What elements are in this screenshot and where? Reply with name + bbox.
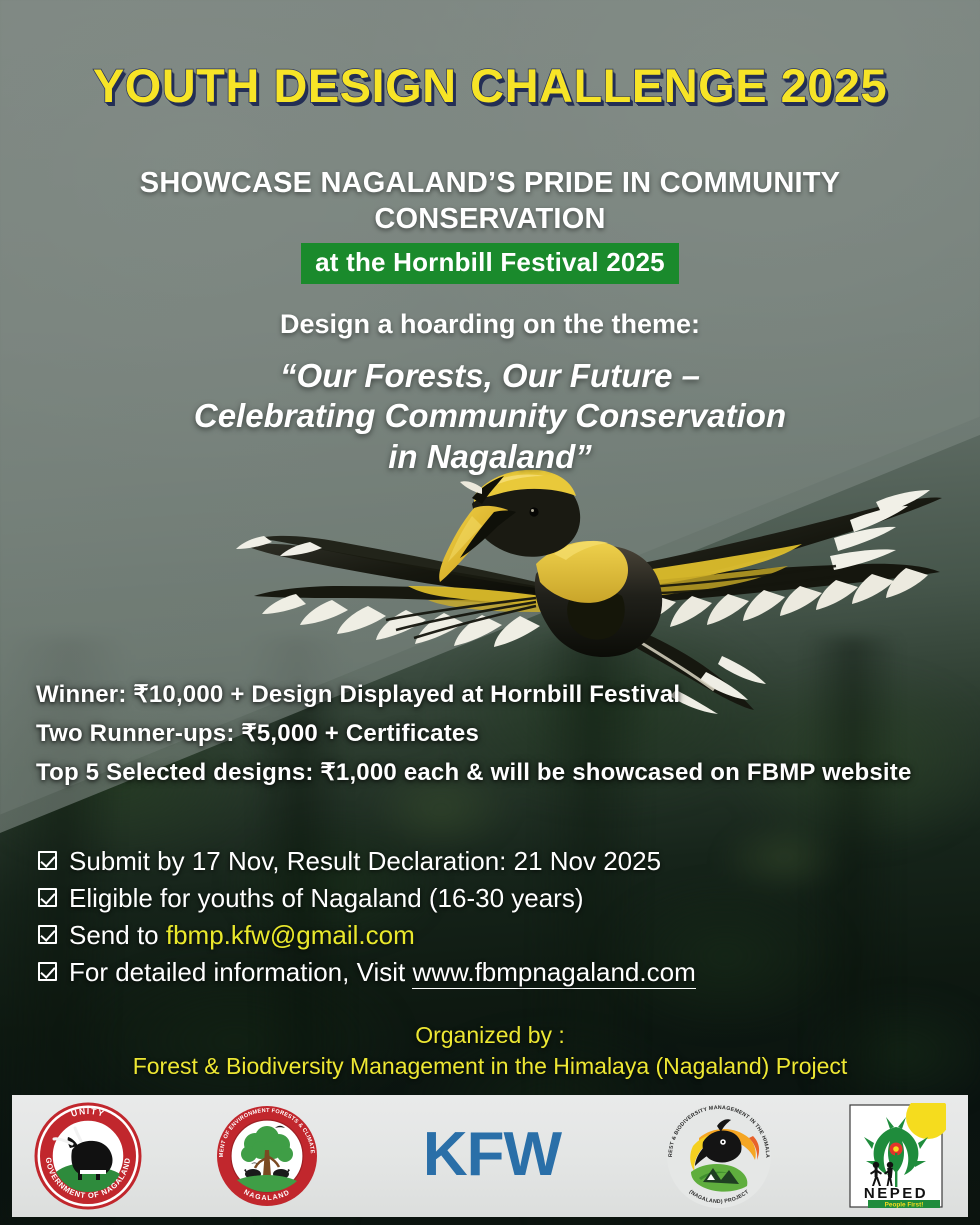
checklist-item-website: For detailed information, Visit www.fbmp…: [38, 953, 696, 990]
checklist-text: Eligible for youths of Nagaland (16-30 y…: [69, 885, 584, 911]
logo-fbmp: FOREST & BIODIVERSITY MANAGEMENT IN THE …: [665, 1102, 773, 1210]
prize-item-runners-up: Two Runner-ups: ₹5,000 + Certificates: [36, 715, 912, 754]
theme-lead: Design a hoarding on the theme:: [0, 309, 980, 340]
theme-quote-line-1: “Our Forests, Our Future –: [50, 356, 930, 396]
theme-quote-line-3: in Nagaland”: [50, 437, 930, 477]
partner-logo-bar: UNITY GOVERNMENT OF NAGALAND: [12, 1095, 968, 1217]
organizer-block: Organized by : Forest & Biodiversity Man…: [0, 1020, 980, 1082]
logo-neped: NEPED People First!: [846, 1103, 946, 1209]
festival-band-row: at the Hornbill Festival 2025: [0, 243, 980, 284]
checkbox-checked-icon: [38, 851, 57, 870]
organizer-label: Organized by :: [0, 1020, 980, 1051]
checkbox-checked-icon: [38, 962, 57, 981]
website-link[interactable]: www.fbmpnagaland.com: [412, 957, 695, 989]
checkbox-checked-icon: [38, 888, 57, 907]
prize-item-winner: Winner: ₹10,000 + Design Displayed at Ho…: [36, 676, 912, 715]
logo-dept-environment-forests: DEPARTMENT OF ENVIRONMENT FORESTS & CLIM…: [215, 1104, 319, 1208]
checklist-item-deadline: Submit by 17 Nov, Result Declaration: 21…: [38, 842, 696, 879]
checklist-item-email: Send to fbmp.kfw@gmail.com: [38, 916, 696, 953]
page-title: YOUTH DESIGN CHALLENGE 2025: [0, 58, 980, 113]
checklist-prefix: For detailed information, Visit: [69, 957, 412, 987]
checkbox-checked-icon: [38, 925, 57, 944]
checklist-text: Submit by 17 Nov, Result Declaration: 21…: [69, 848, 661, 874]
checklist-item-eligibility: Eligible for youths of Nagaland (16-30 y…: [38, 879, 696, 916]
theme-quote-line-2: Celebrating Community Conservation: [50, 396, 930, 436]
kfw-wordmark: KFW: [423, 1120, 563, 1189]
poster-root: YOUTH DESIGN CHALLENGE 2025 SHOWCASE NAG…: [0, 0, 980, 1225]
prize-item-top-five: Top 5 Selected designs: ₹1,000 each & wi…: [36, 754, 912, 793]
organizer-name: Forest & Biodiversity Management in the …: [0, 1051, 980, 1082]
subheadline-line-1: SHOWCASE NAGALAND’S PRIDE IN COMMUNITY: [110, 166, 870, 202]
neped-wordmark: NEPED: [864, 1185, 928, 1202]
checklist-text: For detailed information, Visit www.fbmp…: [69, 959, 696, 985]
details-checklist: Submit by 17 Nov, Result Declaration: 21…: [38, 842, 696, 990]
neped-tagline: People First!: [885, 1202, 924, 1209]
festival-band: at the Hornbill Festival 2025: [301, 243, 679, 284]
subheadline-line-2: CONSERVATION: [110, 202, 870, 238]
prize-list: Winner: ₹10,000 + Design Displayed at Ho…: [36, 676, 912, 793]
checklist-text: Send to fbmp.kfw@gmail.com: [69, 922, 415, 948]
logo-govt-nagaland: UNITY GOVERNMENT OF NAGALAND: [34, 1102, 142, 1210]
email-link[interactable]: fbmp.kfw@gmail.com: [166, 920, 415, 950]
theme-quote: “Our Forests, Our Future – Celebrating C…: [50, 356, 930, 477]
subheadline: SHOWCASE NAGALAND’S PRIDE IN COMMUNITY C…: [110, 166, 870, 238]
checklist-prefix: Send to: [69, 920, 166, 950]
hornbill-bird-image: [236, 446, 946, 714]
logo-kfw: KFW: [392, 1118, 592, 1194]
